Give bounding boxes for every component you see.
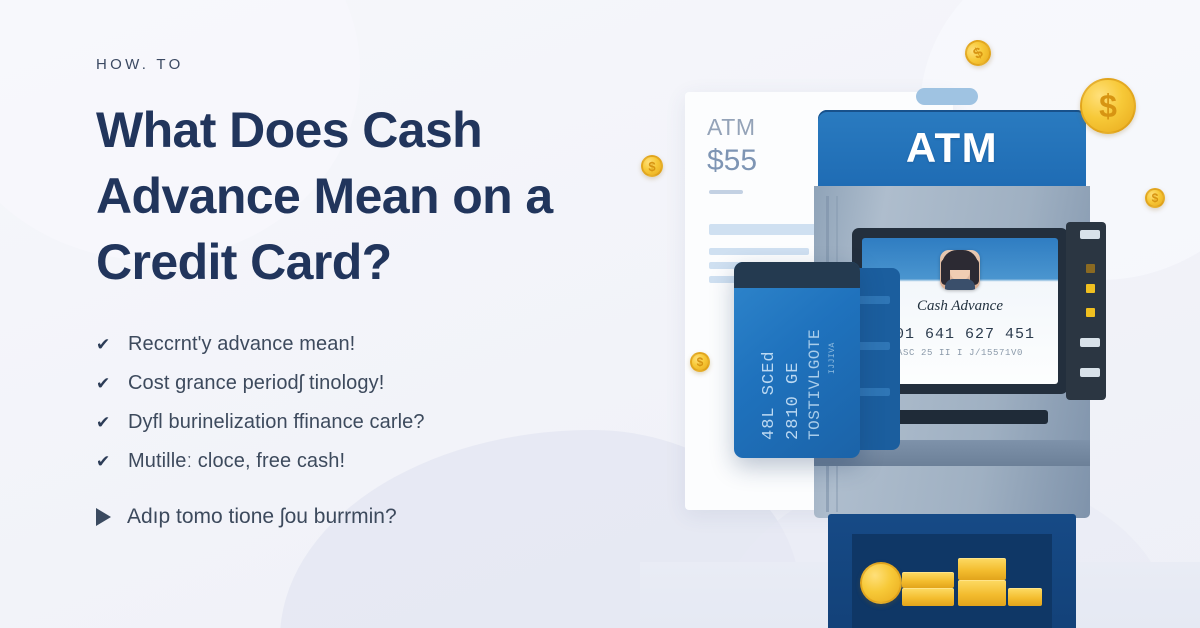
page-title: What Does Cash Advance Mean on a Credit … <box>96 97 616 295</box>
card-text-line-4: IJJIVA <box>828 342 837 374</box>
coin-icon: $ <box>690 352 710 372</box>
list-item: ✔ Reccrnt'y advance mean! <box>96 333 676 356</box>
receipt-atm-label: ATM <box>707 114 756 141</box>
card-text-line-1: 48L SCEd <box>760 350 779 440</box>
atm-side-indicator <box>1086 284 1095 293</box>
atm-side-panel <box>1066 222 1106 400</box>
text-column: HOW. TO What Does Cash Advance Mean on a… <box>96 56 676 529</box>
card-text-line-3: TOSTIVLGOTE <box>806 329 824 440</box>
check-icon: ✔ <box>96 336 113 353</box>
coin-stack <box>1008 588 1042 606</box>
list-item-label: Mutilleː cloce, free cash! <box>128 450 345 473</box>
atm-side-button[interactable] <box>1080 368 1100 377</box>
atm-side-indicator <box>1086 264 1095 273</box>
check-icon: ✔ <box>96 414 113 431</box>
receipt-amount: $55 <box>707 144 757 178</box>
list-item-label: Reccrnt'y advance mean! <box>128 333 355 356</box>
credit-card[interactable]: 48L SCEd 2810 GE TOSTIVLGOTE IJJIVA <box>734 262 860 458</box>
coin-icon: $ <box>1080 78 1136 134</box>
atm-side-button[interactable] <box>1080 230 1100 239</box>
cta-label: Adıp tomo tione ʃou burrmin? <box>127 505 397 529</box>
atm-side-indicator <box>1086 308 1095 317</box>
list-item: ✔ Cost grance periodʃ tinology! <box>96 372 676 395</box>
receipt-rule <box>709 190 743 194</box>
check-icon: ✔ <box>96 453 113 470</box>
list-item: ✔ Mutilleː cloce, free cash! <box>96 450 676 473</box>
coin-stack <box>958 580 1006 606</box>
check-icon: ✔ <box>96 375 113 392</box>
atm-illustration: ATM $55 AD <box>640 0 1200 628</box>
card-magnetic-strip <box>734 262 860 288</box>
atm-side-button[interactable] <box>1080 338 1100 347</box>
cta-row[interactable]: Adıp tomo tione ʃou burrmin? <box>96 505 676 529</box>
poster-canvas: HOW. TO What Does Cash Advance Mean on a… <box>0 0 1200 628</box>
coin-stack <box>902 572 954 588</box>
coin-stack <box>958 558 1006 580</box>
checklist: ✔ Reccrnt'y advance mean! ✔ Cost grance … <box>96 333 676 473</box>
atm-top-tab <box>916 88 978 105</box>
coin-icon: $ <box>641 155 663 177</box>
coin-stack <box>902 588 954 606</box>
card-text-line-2: 2810 GE <box>784 362 803 440</box>
list-item-label: Cost grance periodʃ tinology! <box>128 372 384 395</box>
coin-large <box>860 562 902 604</box>
receipt-bar <box>709 248 809 255</box>
coin-icon: $ <box>960 35 995 70</box>
avatar <box>940 250 980 290</box>
avatar-body <box>945 279 975 290</box>
coin-icon: $ <box>1145 188 1165 208</box>
eyebrow-label: HOW. TO <box>96 56 676 73</box>
atm-sign: ATM <box>818 110 1086 186</box>
atm-sign-label: ATM <box>818 110 1086 186</box>
play-triangle-icon <box>96 508 111 526</box>
list-item: ✔ Dyfl burinelization ffinance carle? <box>96 411 676 434</box>
list-item-label: Dyfl burinelization ffinance carle? <box>128 411 425 434</box>
